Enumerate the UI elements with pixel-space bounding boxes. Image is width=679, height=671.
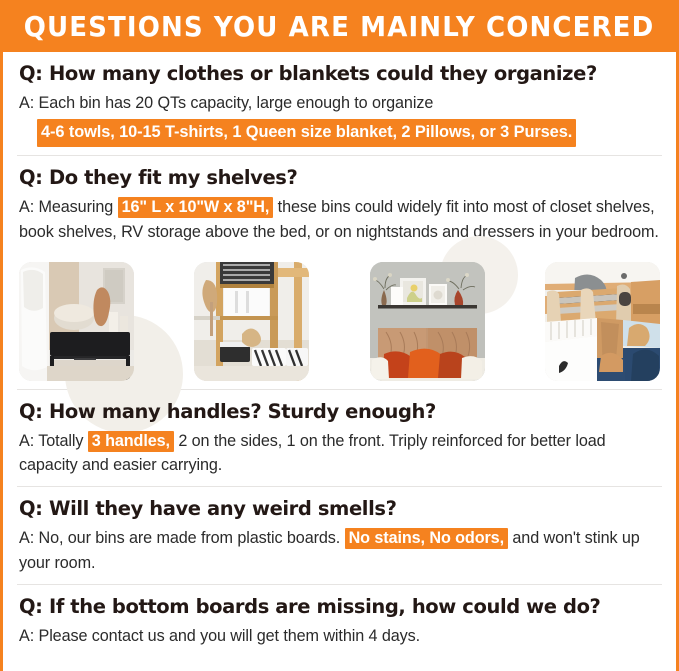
wooden-shelf-baskets-image bbox=[194, 262, 309, 381]
faq-item-4: Q: Will they have any weird smells? A: N… bbox=[3, 487, 676, 584]
faq-answer-3: A: Totally 3 handles, 2 on the sides, 1 … bbox=[19, 429, 660, 478]
faq-item-3: Q: How many handles? Sturdy enough? A: T… bbox=[3, 390, 676, 487]
faq-question-4: Q: Will they have any weird smells? bbox=[19, 496, 660, 521]
faq-answer-3-highlight: 3 handles, bbox=[88, 431, 174, 452]
rv-overhead-storage-image bbox=[545, 262, 660, 381]
faq-question-1: Q: How many clothes or blankets could th… bbox=[19, 61, 660, 86]
faq-answer-2-text-before: A: Measuring bbox=[19, 198, 118, 216]
faq-item-5: Q: If the bottom boards are missing, how… bbox=[3, 585, 676, 661]
faq-question-3: Q: How many handles? Sturdy enough? bbox=[19, 399, 660, 424]
faq-question-5: Q: If the bottom boards are missing, how… bbox=[19, 594, 660, 619]
gallery-photo-4[interactable] bbox=[545, 262, 660, 381]
faq-answer-5: A: Please contact us and you will get th… bbox=[19, 624, 660, 649]
faq-infographic-page: QUESTIONS YOU ARE MAINLY CONCERED Q: How… bbox=[0, 0, 679, 671]
faq-item-2: Q: Do they fit my shelves? A: Measuring … bbox=[3, 156, 676, 253]
faq-answer-1-text: A: Each bin has 20 QTs capacity, large e… bbox=[19, 94, 433, 112]
faq-answer-2-highlight: 16" L x 10"W x 8"H, bbox=[118, 197, 274, 218]
gallery-photo-3[interactable] bbox=[370, 262, 485, 381]
faq-answer-4-highlight: No stains, No odors, bbox=[345, 528, 508, 549]
page-title: QUESTIONS YOU ARE MAINLY CONCERED bbox=[24, 10, 655, 43]
faq-question-2: Q: Do they fit my shelves? bbox=[19, 165, 660, 190]
faq-answer-1-highlight: 4-6 towls, 10-15 T-shirts, 1 Queen size … bbox=[37, 119, 576, 147]
faq-answer-3-text-before: A: Totally bbox=[19, 432, 88, 450]
gallery-photo-1[interactable] bbox=[19, 262, 134, 381]
photo-gallery bbox=[3, 253, 676, 389]
faq-answer-1: A: Each bin has 20 QTs capacity, large e… bbox=[19, 91, 660, 147]
faq-item-1: Q: How many clothes or blankets could th… bbox=[3, 52, 676, 155]
faq-answer-4: A: No, our bins are made from plastic bo… bbox=[19, 526, 660, 575]
faq-answer-2: A: Measuring 16" L x 10"W x 8"H, these b… bbox=[19, 195, 660, 244]
faq-answer-4-text-before: A: No, our bins are made from plastic bo… bbox=[19, 529, 345, 547]
bedroom-nightstand-image bbox=[19, 262, 134, 381]
photo-row bbox=[19, 253, 660, 381]
bed-with-wall-shelf-image bbox=[370, 262, 485, 381]
page-header-banner: QUESTIONS YOU ARE MAINLY CONCERED bbox=[0, 0, 679, 52]
gallery-photo-2[interactable] bbox=[194, 262, 309, 381]
